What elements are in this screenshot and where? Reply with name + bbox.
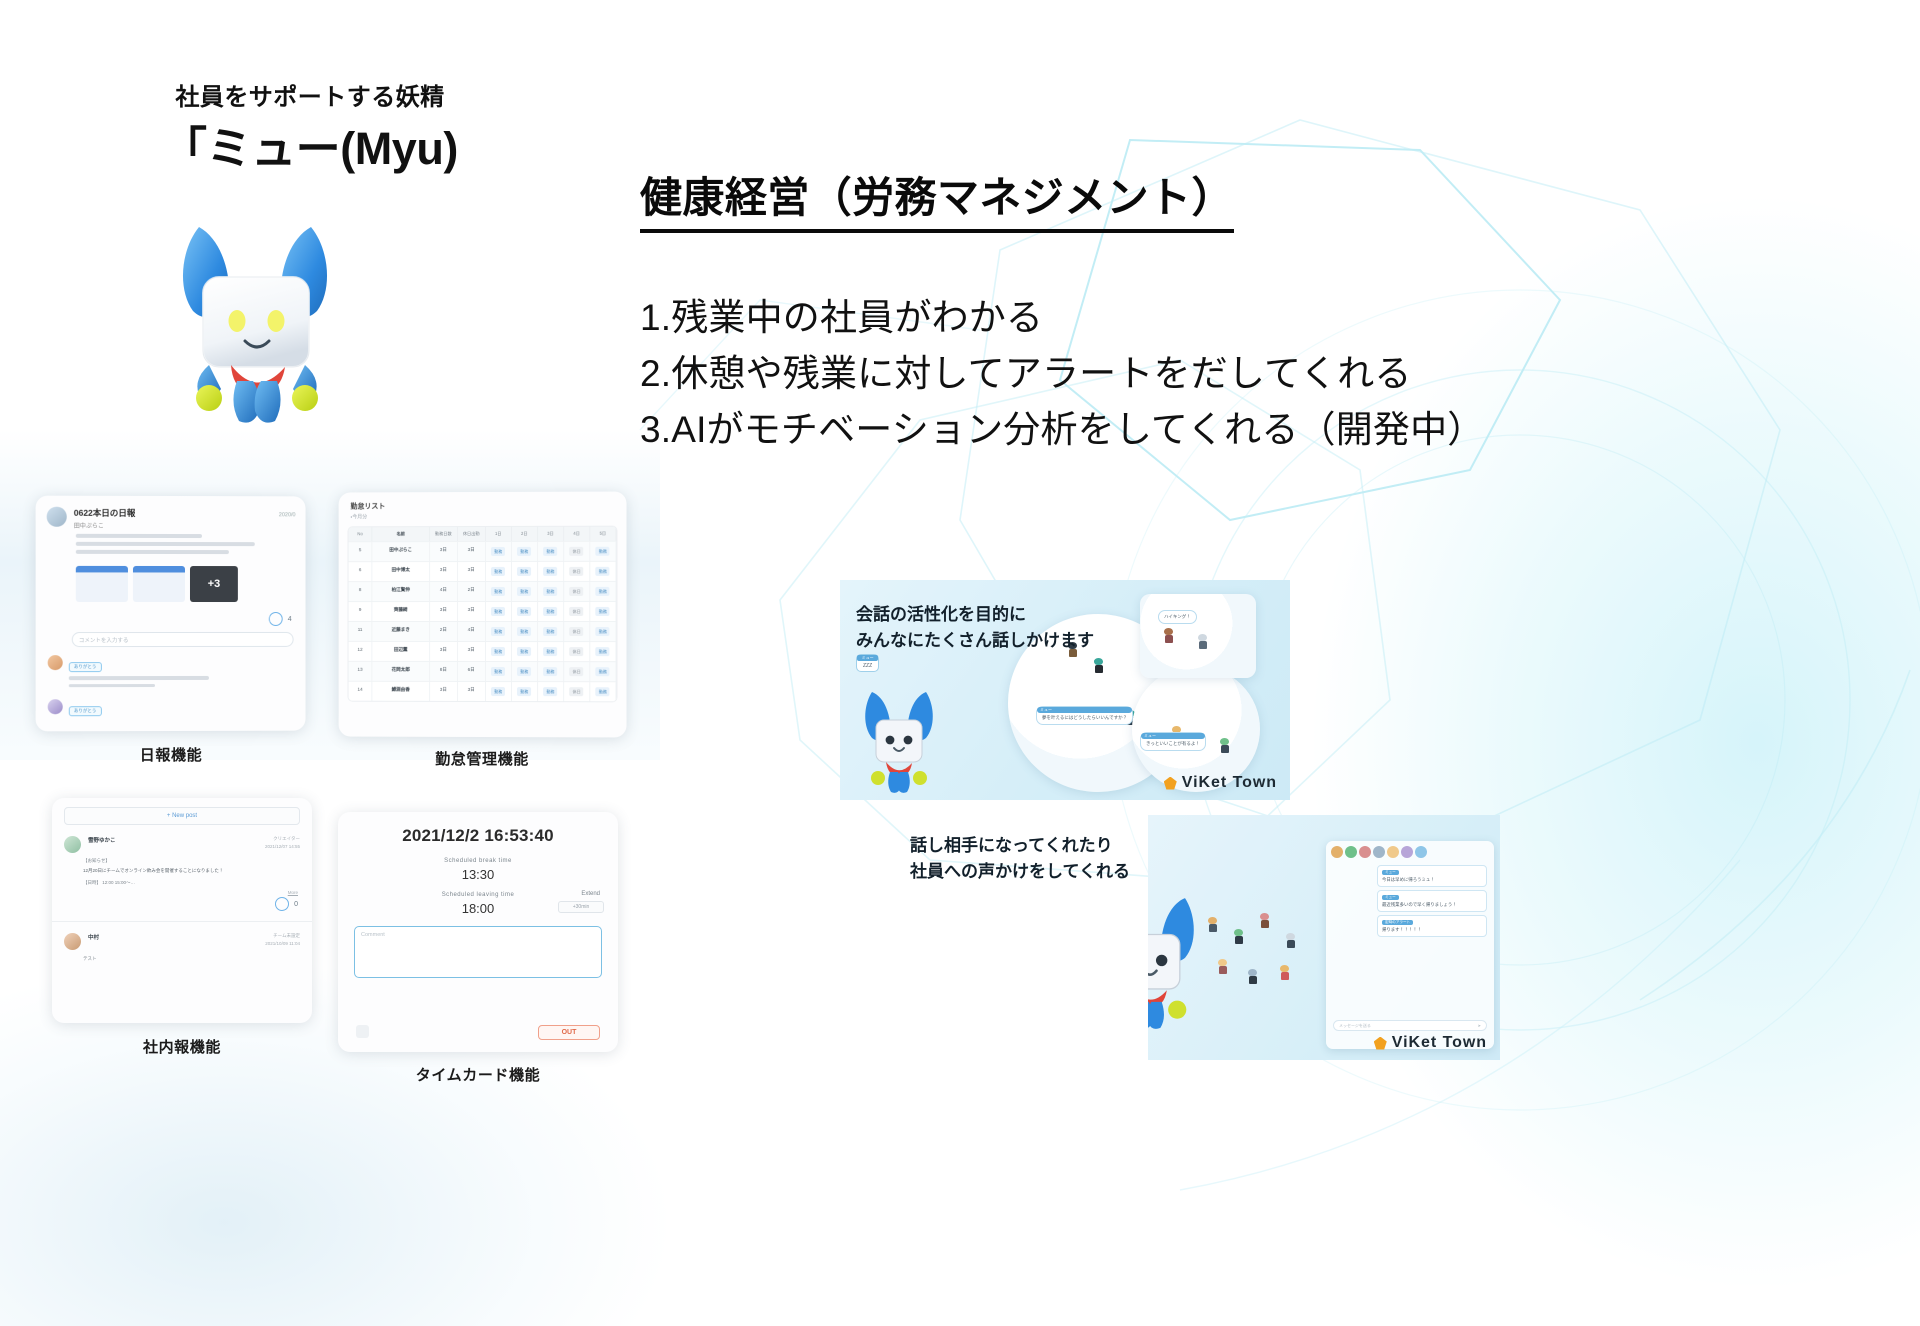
attendance-table: No 名前 勤務日数 休日出勤 1日 2日 3日 4日 5日 5田中ぷらこ3日3… xyxy=(348,526,618,703)
cell-days: 3日 xyxy=(430,642,458,661)
comment-icon xyxy=(269,612,283,626)
cell-name: 近藤まき xyxy=(373,622,430,641)
cell-day-3: 勤務 xyxy=(538,642,564,661)
cell-day-4: 休日 xyxy=(564,562,590,581)
cell-day-3: 勤務 xyxy=(538,662,564,681)
cell-holiday: 3日 xyxy=(458,562,486,581)
cell-no: 11 xyxy=(349,622,373,641)
chat-bubble: ミュー 夢を叶えるにはどうしたらいいんですか？ xyxy=(1036,706,1133,725)
cell-day-4: 休日 xyxy=(564,542,590,561)
myu-mascot-icon-small xyxy=(856,688,942,796)
town-avatar xyxy=(1198,634,1207,649)
myu-status-badge: ミュー ZZZ xyxy=(856,654,879,672)
cell-day-3: 勤務 xyxy=(538,682,564,701)
caption-line-2: みんなにたくさん話しかけます xyxy=(856,628,1094,654)
viket-logo-mark-icon xyxy=(1164,777,1177,790)
table-row[interactable]: 8柏江賢伸4日2日勤務勤務勤務休日勤務 xyxy=(349,581,617,601)
cell-day-5: 勤務 xyxy=(590,602,616,621)
comment-count: 0 xyxy=(294,901,298,908)
avatar xyxy=(1359,846,1371,858)
attachment-thumb[interactable] xyxy=(133,566,185,602)
leaving-time-label: Scheduled leaving time xyxy=(338,892,618,898)
cell-holiday: 3日 xyxy=(458,642,486,661)
news-author: 中村 xyxy=(88,933,99,941)
cell-day-3: 勤務 xyxy=(538,582,564,601)
cell-day-5: 勤務 xyxy=(590,642,616,661)
post-header: 0622本日の日報 田中ぷらこ xyxy=(36,496,306,535)
post-title: 0622本日の日報 xyxy=(74,507,136,519)
thanks-badge: ありがとう xyxy=(69,662,102,672)
cell-day-2: 勤務 xyxy=(512,682,538,701)
myu-name: ミュー xyxy=(857,655,878,661)
table-row[interactable]: 12田辺薫3日3日勤務勤務勤務休日勤務 xyxy=(349,641,617,661)
col-days: 勤務日数 xyxy=(430,527,458,541)
bubble-text: きっといいことが有るよ！ xyxy=(1146,741,1200,746)
myu-chat-panel[interactable]: ミュー 今日は早めに帰ろうミュ！ ミュー 最近残業多いので早く帰りましょう！ 定… xyxy=(1326,841,1494,1049)
avatar xyxy=(64,933,81,950)
cell-day-1: 勤務 xyxy=(486,662,512,681)
news-body: テスト xyxy=(52,956,312,962)
screenshot-attendance[interactable]: 勤怠リスト ・今月分 No 名前 勤務日数 休日出勤 1日 2日 3日 4日 5… xyxy=(338,492,626,737)
cell-days: 3日 xyxy=(430,542,458,561)
viket-town-panel-chat[interactable]: ミュー 今日は早めに帰ろうミュ！ ミュー 最近残業多いので早く帰りましょう！ 定… xyxy=(1148,815,1500,1060)
page-title: 健康経営（労務マネジメント） xyxy=(640,172,1234,233)
table-row[interactable]: 5田中ぷらこ3日3日勤務勤務勤務休日勤務 xyxy=(349,541,617,561)
town-map-tile xyxy=(1140,594,1256,678)
viket-logo-mark-icon xyxy=(1374,1037,1387,1050)
cell-day-4: 休日 xyxy=(564,662,590,681)
screenshot-daily-report[interactable]: 2020/0 0622本日の日報 田中ぷらこ +3 xyxy=(36,496,306,731)
table-row[interactable]: 9齊藤綺3日3日勤務勤務勤務休日勤務 xyxy=(349,601,617,621)
cell-day-5: 勤務 xyxy=(590,662,616,681)
comment-textarea[interactable]: Comment xyxy=(354,926,602,978)
comment-summary[interactable]: 0 xyxy=(52,895,312,917)
cell-day-2: 勤務 xyxy=(512,582,538,601)
comment-count: 4 xyxy=(288,615,292,622)
cell-holiday: 3日 xyxy=(458,542,486,561)
cell-name: 田中ぷらこ xyxy=(373,542,430,561)
current-datetime: 2021/12/2 16:53:40 xyxy=(338,812,618,858)
news-author: 雪野ゆかこ xyxy=(88,836,116,844)
message-speaker: ミュー xyxy=(1382,895,1399,900)
cell-day-5: 勤務 xyxy=(590,682,616,701)
table-row[interactable]: 6田中博太3日3日勤務勤務勤務休日勤務 xyxy=(349,561,617,581)
caption-internal-news: 社内報機能 xyxy=(52,1036,312,1057)
cell-holiday: 2日 xyxy=(458,582,486,601)
cell-days: 3日 xyxy=(430,682,458,701)
cell-no: 8 xyxy=(349,582,373,601)
news-body: 12月20日にチームでオンライン飲み会を開催することになりました！ xyxy=(52,868,312,874)
cell-days: 3日 xyxy=(430,602,458,621)
table-header-row: No 名前 勤務日数 休日出勤 1日 2日 3日 4日 5日 xyxy=(349,527,617,542)
feature-list: 1.残業中の社員がわかる 2.休憩や残業に対してアラートをだしてくれる 3.AI… xyxy=(640,290,1890,459)
bubble-text: ハイキング！ xyxy=(1164,614,1191,619)
cell-day-4: 休日 xyxy=(564,582,590,601)
cell-name: 鱒淵由香 xyxy=(373,682,430,701)
table-body: 5田中ぷらこ3日3日勤務勤務勤務休日勤務6田中博太3日3日勤務勤務勤務休日勤務8… xyxy=(349,541,617,702)
cell-day-1: 勤務 xyxy=(486,682,512,701)
cell-days: 4日 xyxy=(430,582,458,601)
cell-day-5: 勤務 xyxy=(590,542,616,561)
comment-meta xyxy=(69,684,155,687)
post-date: 2020/0 xyxy=(279,512,296,518)
chat-message: 定時のアラート 帰ります！！！！！ xyxy=(1377,915,1487,937)
comment-summary[interactable]: 4 xyxy=(36,602,306,632)
col-name: 名前 xyxy=(373,527,430,541)
myu-status: ZZZ xyxy=(863,663,872,669)
news-team-tag: チーム未設定 xyxy=(99,933,300,941)
avatar xyxy=(48,699,63,714)
cell-days: 3日 xyxy=(430,562,458,581)
bubble-speaker: ミュー xyxy=(1141,733,1205,739)
cell-no: 12 xyxy=(349,642,373,661)
cell-day-1: 勤務 xyxy=(486,642,512,661)
comment-item: ありがとう xyxy=(36,647,306,691)
chat-message: ミュー 最近残業多いので早く帰りましょう！ xyxy=(1377,890,1487,912)
attendance-title: 勤怠リスト xyxy=(339,492,627,514)
avatar xyxy=(1345,846,1357,858)
cell-day-1: 勤務 xyxy=(486,602,512,621)
cell-day-5: 勤務 xyxy=(590,582,616,601)
cell-days: 8日 xyxy=(430,662,458,681)
cell-no: 5 xyxy=(349,542,373,561)
caption-attendance: 勤怠管理機能 xyxy=(338,748,626,769)
caption-timecard: タイムカード機能 xyxy=(338,1064,618,1085)
cell-day-4: 休日 xyxy=(564,602,590,621)
hero-subtitle: 社員をサポートする妖精 xyxy=(0,84,620,113)
cell-day-3: 勤務 xyxy=(538,622,564,641)
cell-day-3: 勤務 xyxy=(538,602,564,621)
myu-mascot-icon xyxy=(145,215,375,430)
attendance-subtitle: ・今月分 xyxy=(339,513,627,527)
col-day-2: 2日 xyxy=(512,527,538,541)
avatar xyxy=(1331,846,1343,858)
cell-no: 9 xyxy=(349,602,373,621)
col-day-4: 4日 xyxy=(564,527,590,541)
body-line xyxy=(76,534,203,538)
message-speaker: ミュー xyxy=(1382,870,1399,875)
screenshot-timecard[interactable]: 2021/12/2 16:53:40 Scheduled break time … xyxy=(338,812,618,1052)
viket-caption-1: 会話の活性化を目的に みんなにたくさん話しかけます xyxy=(856,602,1094,653)
comment-input[interactable]: コメントを入力する xyxy=(72,632,294,647)
cell-day-2: 勤務 xyxy=(512,562,538,581)
cell-name: 花岡太郎 xyxy=(373,662,430,681)
cell-day-2: 勤務 xyxy=(512,602,538,621)
news-role: クリエイター xyxy=(116,836,300,844)
avatar xyxy=(1373,846,1385,858)
avatar xyxy=(48,655,63,670)
cell-day-2: 勤務 xyxy=(512,662,538,681)
cell-no: 13 xyxy=(349,662,373,681)
chat-message: ミュー 今日は早めに帰ろうミュ！ xyxy=(1377,865,1487,887)
viket-town-panel-conversation[interactable]: ミュー ZZZ ミュー 夢を叶えるにはどうしたらいいんですか？ ミュー きっとい… xyxy=(840,580,1290,800)
out-label: OUT xyxy=(562,1029,577,1036)
chat-bubble: ハイキング！ xyxy=(1158,610,1197,624)
cell-name: 齊藤綺 xyxy=(373,602,430,621)
cell-day-1: 勤務 xyxy=(486,542,512,561)
cell-day-2: 勤務 xyxy=(512,642,538,661)
table-row[interactable]: 14鱒淵由香3日3日勤務勤務勤務休日勤務 xyxy=(349,681,617,702)
avatar xyxy=(47,507,67,527)
avatar xyxy=(1415,846,1427,858)
chat-bubble: ミュー きっといいことが有るよ！ xyxy=(1140,732,1206,751)
hero-block: 社員をサポートする妖精 「ミュー(Myu) xyxy=(0,84,620,175)
message-text: 帰ります！！！！！ xyxy=(1382,927,1482,933)
break-time-label: Scheduled break time xyxy=(338,858,618,864)
bg-glow-right xyxy=(1180,0,1920,1326)
bubble-speaker: ミュー xyxy=(1037,707,1132,713)
cell-day-1: 勤務 xyxy=(486,582,512,601)
cell-day-2: 勤務 xyxy=(512,622,538,641)
cell-holiday: 4日 xyxy=(458,622,486,641)
viket-logo-text: ViKet Town xyxy=(1182,774,1277,792)
cell-day-3: 勤務 xyxy=(538,562,564,581)
cell-day-4: 休日 xyxy=(564,622,590,641)
cell-name: 柏江賢伸 xyxy=(373,582,430,601)
viket-town-logo: ViKet Town xyxy=(1374,1034,1487,1052)
cell-day-5: 勤務 xyxy=(590,622,616,641)
caption-line-1: 話し相手になってくれたり xyxy=(910,833,1140,859)
table-row[interactable]: 13花岡太郎8日6日勤務勤務勤務休日勤務 xyxy=(349,661,617,681)
cell-no: 6 xyxy=(349,562,373,581)
save-icon[interactable] xyxy=(356,1025,369,1038)
col-day-3: 3日 xyxy=(538,527,564,541)
chat-input-placeholder: メッセージを送る xyxy=(1339,1023,1371,1029)
feature-item-1: 1.残業中の社員がわかる xyxy=(640,290,1890,346)
cell-name: 田辺薫 xyxy=(373,642,430,661)
comment-item: ありがとう xyxy=(36,691,306,718)
send-icon[interactable]: ➤ xyxy=(1478,1023,1481,1028)
body-line xyxy=(76,542,255,546)
town-avatar xyxy=(1220,738,1229,753)
news-sub: 【日時】 12:00 15:00〜… xyxy=(52,880,312,886)
message-text: 今日は早めに帰ろうミュ！ xyxy=(1382,877,1482,883)
cell-no: 14 xyxy=(349,682,373,701)
news-date: 2021/12/07 14:55 xyxy=(88,844,300,849)
col-no: No xyxy=(349,527,373,541)
comment-text xyxy=(69,676,209,680)
clock-out-button[interactable]: OUT xyxy=(538,1025,600,1040)
post-body xyxy=(36,534,306,554)
avatar xyxy=(1401,846,1413,858)
caption-daily-report: 日報機能 xyxy=(36,744,306,765)
post-attachments[interactable]: +3 xyxy=(36,558,306,602)
cell-day-2: 勤務 xyxy=(512,542,538,561)
town-avatar xyxy=(1164,628,1173,643)
attachment-thumb[interactable] xyxy=(76,566,128,602)
town-avatar xyxy=(1094,658,1103,673)
message-text: 最近残業多いので早く帰りましょう！ xyxy=(1382,902,1482,908)
comment-icon xyxy=(275,897,289,911)
break-time-value: 13:30 xyxy=(338,867,618,882)
attachment-more-count[interactable]: +3 xyxy=(190,566,238,602)
cell-holiday: 3日 xyxy=(458,602,486,621)
avatar xyxy=(64,836,81,853)
viket-caption-2: 話し相手になってくれたり 社員への声かけをしてくれる xyxy=(910,833,1140,884)
feature-item-3: 3.AIがモチベーション分析をしてくれる（開発中） xyxy=(640,402,1890,458)
feature-item-2: 2.休憩や残業に対してアラートをだしてくれる xyxy=(640,346,1890,402)
cell-day-1: 勤務 xyxy=(486,562,512,581)
news-item[interactable]: 雪野ゆかこ クリエイター 2021/12/07 14:55 xyxy=(52,825,312,853)
news-date: 2021/10/09 11:04 xyxy=(88,941,300,946)
product-screenshot-grid: 2020/0 0622本日の日報 田中ぷらこ +3 xyxy=(0,462,628,1326)
news-tag: 【お知らせ】 xyxy=(52,858,312,864)
thanks-badge: ありがとう xyxy=(69,706,102,716)
col-holiday: 休日出勤 xyxy=(458,527,486,541)
cell-name: 田中博太 xyxy=(373,562,430,581)
new-post-button[interactable]: + New post xyxy=(64,807,300,825)
slide-canvas: 社員をサポートする妖精 「ミュー(Myu) xyxy=(0,0,1920,1326)
caption-line-1: 会話の活性化を目的に xyxy=(856,602,1094,628)
chat-input[interactable]: メッセージを送る ➤ xyxy=(1333,1020,1487,1031)
viket-town-logo: ViKet Town xyxy=(1164,774,1277,792)
myu-mascot-icon-small xyxy=(1148,893,1206,1033)
cell-days: 2日 xyxy=(430,622,458,641)
table-row[interactable]: 11近藤まき2日4日勤務勤務勤務休日勤務 xyxy=(349,621,617,641)
message-speaker: 定時のアラート xyxy=(1382,920,1413,925)
caption-line-2: 社員への声かけをしてくれる xyxy=(910,859,1140,885)
extend-label: Extend xyxy=(581,891,600,897)
post-author: 田中ぷらこ xyxy=(74,521,136,530)
cell-day-4: 休日 xyxy=(564,642,590,661)
viket-logo-text: ViKet Town xyxy=(1392,1034,1487,1052)
col-day-1: 1日 xyxy=(486,527,512,541)
chat-avatar-row xyxy=(1326,841,1494,862)
extend-select[interactable]: +30min xyxy=(558,901,604,913)
cell-day-4: 休日 xyxy=(564,682,590,701)
cell-day-1: 勤務 xyxy=(486,622,512,641)
avatar xyxy=(1387,846,1399,858)
cell-holiday: 3日 xyxy=(458,682,486,701)
body-line xyxy=(76,550,229,554)
hero-title: 「ミュー(Myu) xyxy=(0,123,620,175)
screenshot-internal-news[interactable]: + New post 雪野ゆかこ クリエイター 2021/12/07 14:55… xyxy=(52,798,312,1023)
cell-day-3: 勤務 xyxy=(538,542,564,561)
cell-day-5: 勤務 xyxy=(590,562,616,581)
bubble-text: 夢を叶えるにはどうしたらいいんですか？ xyxy=(1042,715,1127,720)
news-item[interactable]: 中村 チーム未設定 2021/10/09 11:04 xyxy=(52,922,312,950)
col-day-5: 5日 xyxy=(590,527,616,541)
town-crowd xyxy=(1188,907,1338,1027)
cell-holiday: 6日 xyxy=(458,662,486,681)
